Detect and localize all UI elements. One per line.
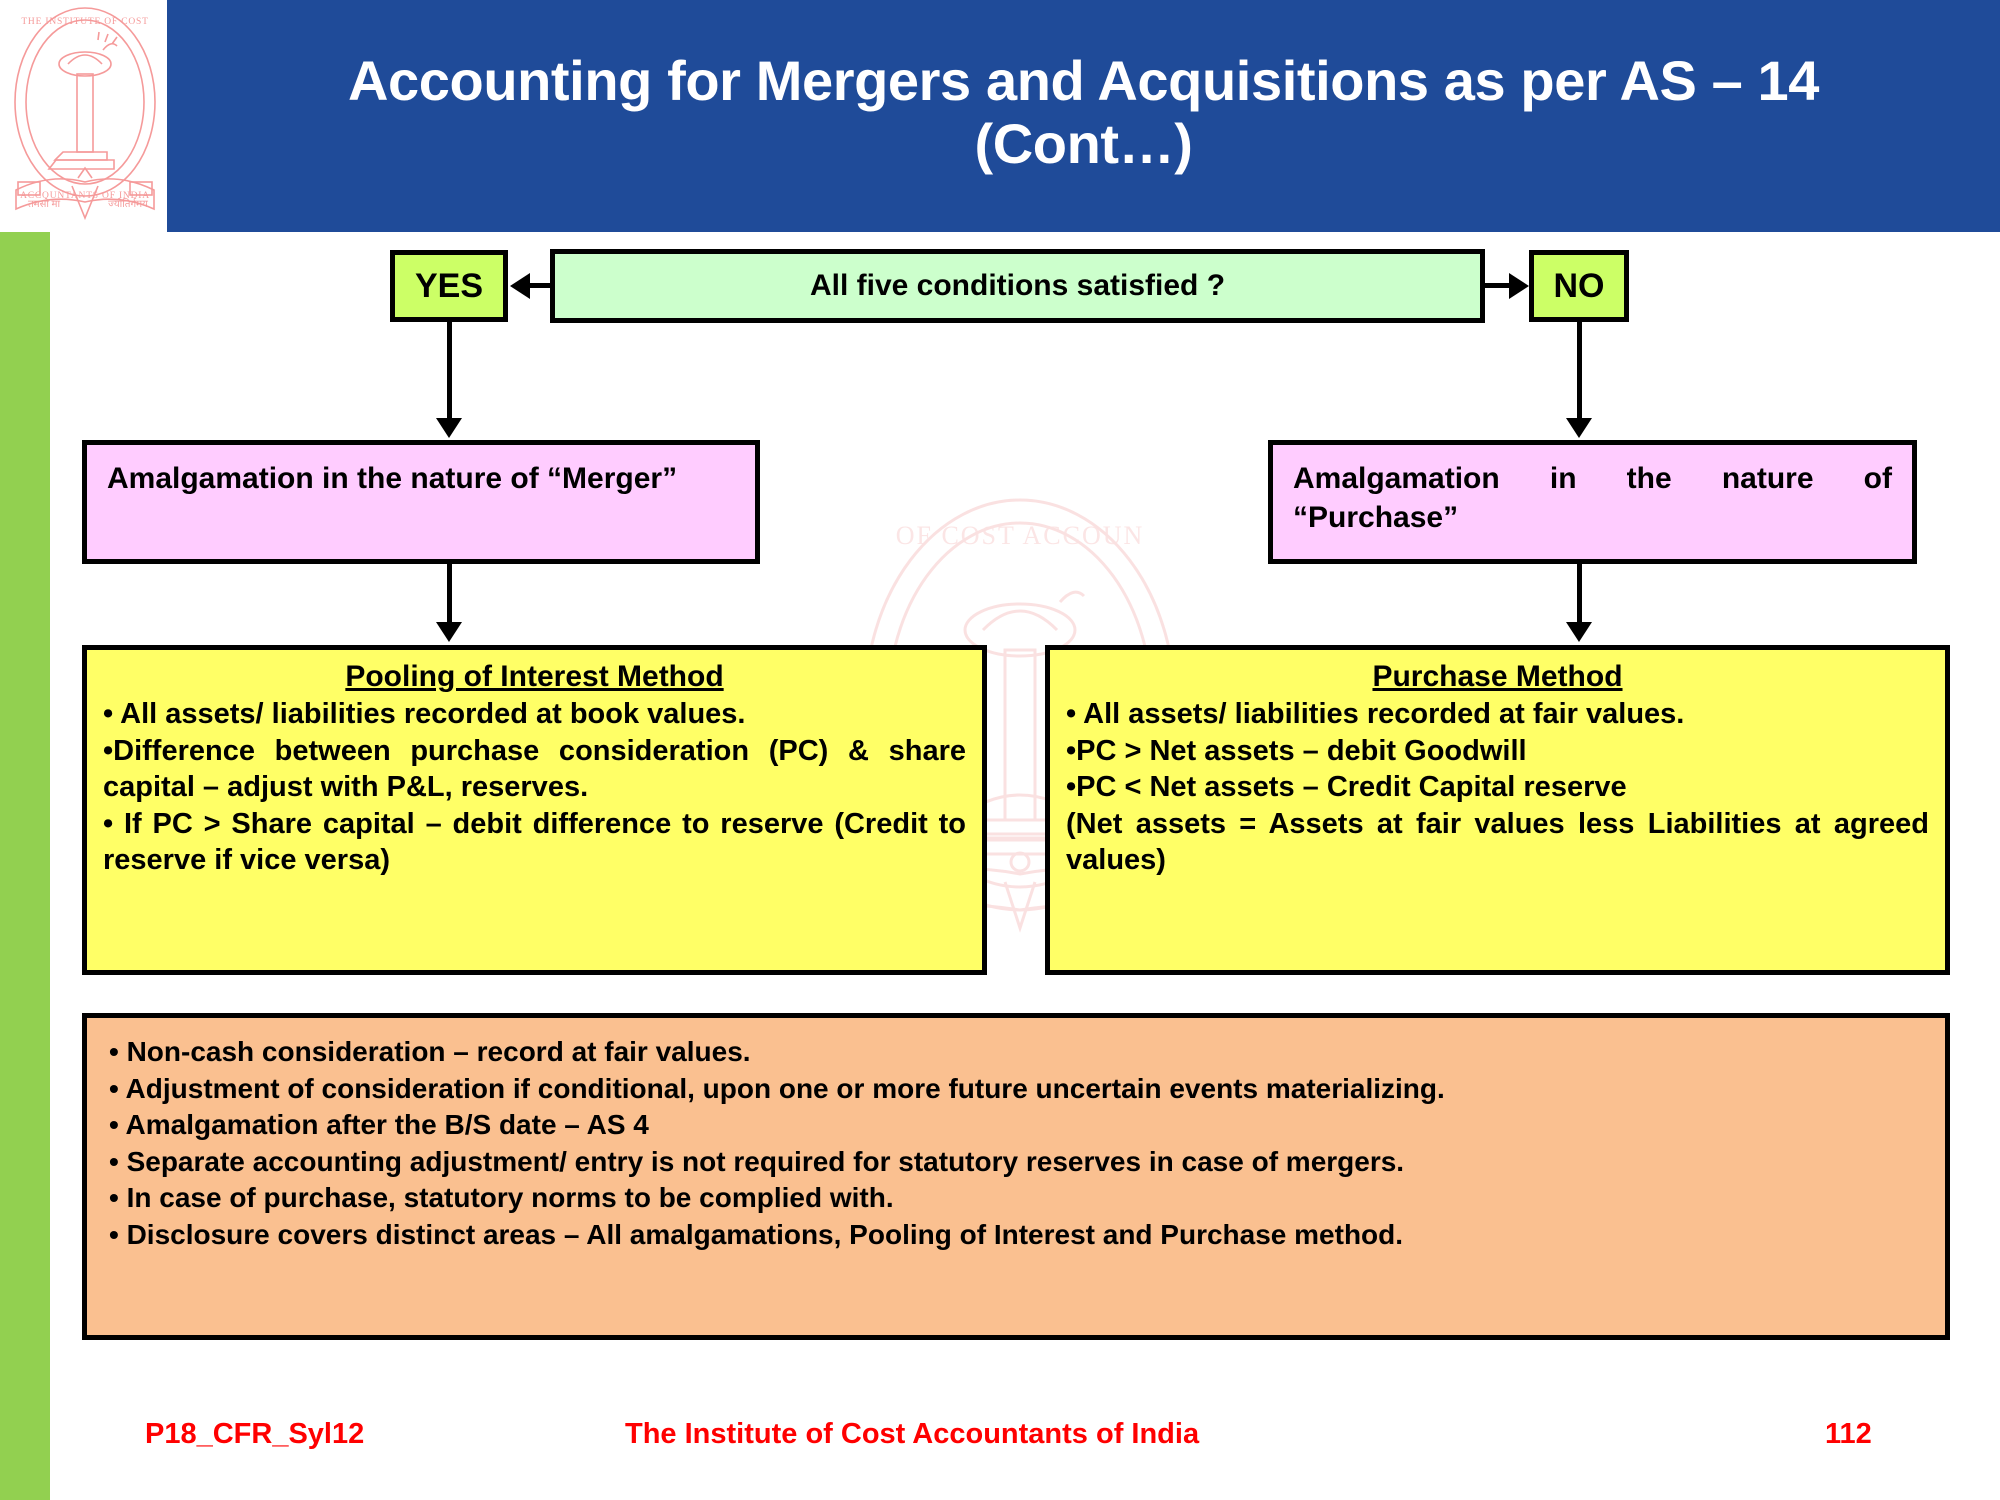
summary-line: • Disclosure covers distinct areas – All… <box>109 1217 1923 1254</box>
pooling-method-line: • If PC > Share capital – debit differen… <box>103 806 966 879</box>
pooling-method-title: Pooling of Interest Method <box>103 660 966 694</box>
slide-footer: P18_CFR_Syl12 The Institute of Cost Acco… <box>0 1418 2000 1478</box>
left-accent-strip <box>0 232 50 1500</box>
summary-line: • In case of purchase, statutory norms t… <box>109 1180 1923 1217</box>
page-title-line-2: (Cont…) <box>974 112 1192 175</box>
branch-no-label: NO <box>1554 269 1605 303</box>
footer-page-number: 112 <box>1825 1418 1872 1451</box>
purchase-method-line: • All assets/ liabilities recorded at fa… <box>1066 696 1929 733</box>
pooling-of-interest-method-box[interactable]: Pooling of Interest Method • All assets/… <box>82 645 987 975</box>
svg-text:OF COST ACCOUN: OF COST ACCOUN <box>896 521 1145 550</box>
amalgamation-purchase-text: Amalgamation in the nature of “Purchase” <box>1293 459 1892 537</box>
amalgamation-purchase-box[interactable]: Amalgamation in the nature of “Purchase” <box>1268 440 1917 564</box>
summary-line: • Amalgamation after the B/S date – AS 4 <box>109 1107 1923 1144</box>
purchase-method-line: •PC < Net assets – Credit Capital reserv… <box>1066 769 1929 806</box>
summary-notes-box[interactable]: • Non-cash consideration – record at fai… <box>82 1013 1950 1340</box>
amalgamation-merger-box[interactable]: Amalgamation in the nature of “Merger” <box>82 440 760 564</box>
institute-logo-icon: THE INSTITUTE OF COST ACCOUNTANTS OF IND… <box>6 2 164 227</box>
amalgamation-merger-text: Amalgamation in the nature of “Merger” <box>107 459 735 498</box>
svg-text:तमसो मा: तमसो मा <box>28 198 61 210</box>
decision-box[interactable]: All five conditions satisfied ? <box>550 249 1485 323</box>
summary-line: • Adjustment of consideration if conditi… <box>109 1071 1923 1108</box>
purchase-method-line: (Net assets = Assets at fair values less… <box>1066 806 1929 879</box>
page-title: Accounting for Mergers and Acquisitions … <box>304 50 1864 181</box>
summary-line: • Separate accounting adjustment/ entry … <box>109 1144 1923 1181</box>
svg-text:ज्योतिर्गमय: ज्योतिर्गमय <box>108 198 148 210</box>
branch-no-box[interactable]: NO <box>1529 250 1629 322</box>
slide-title-bar: Accounting for Mergers and Acquisitions … <box>167 0 2000 232</box>
page-title-line-1: Accounting for Mergers and Acquisitions … <box>348 49 1819 112</box>
branch-yes-box[interactable]: YES <box>390 250 508 322</box>
footer-institute-name: The Institute of Cost Accountants of Ind… <box>625 1418 1199 1451</box>
purchase-method-line: •PC > Net assets – debit Goodwill <box>1066 733 1929 770</box>
pooling-method-line: • All assets/ liabilities recorded at bo… <box>103 696 966 733</box>
decision-label: All five conditions satisfied ? <box>810 269 1225 303</box>
pooling-method-line: •Difference between purchase considerati… <box>103 733 966 806</box>
purchase-method-title: Purchase Method <box>1066 660 1929 694</box>
summary-line: • Non-cash consideration – record at fai… <box>109 1034 1923 1071</box>
footer-syllabus-code: P18_CFR_Syl12 <box>145 1418 364 1451</box>
branch-yes-label: YES <box>415 269 483 303</box>
svg-text:THE INSTITUTE OF COST: THE INSTITUTE OF COST <box>21 17 148 27</box>
purchase-method-box[interactable]: Purchase Method • All assets/ liabilitie… <box>1045 645 1950 975</box>
